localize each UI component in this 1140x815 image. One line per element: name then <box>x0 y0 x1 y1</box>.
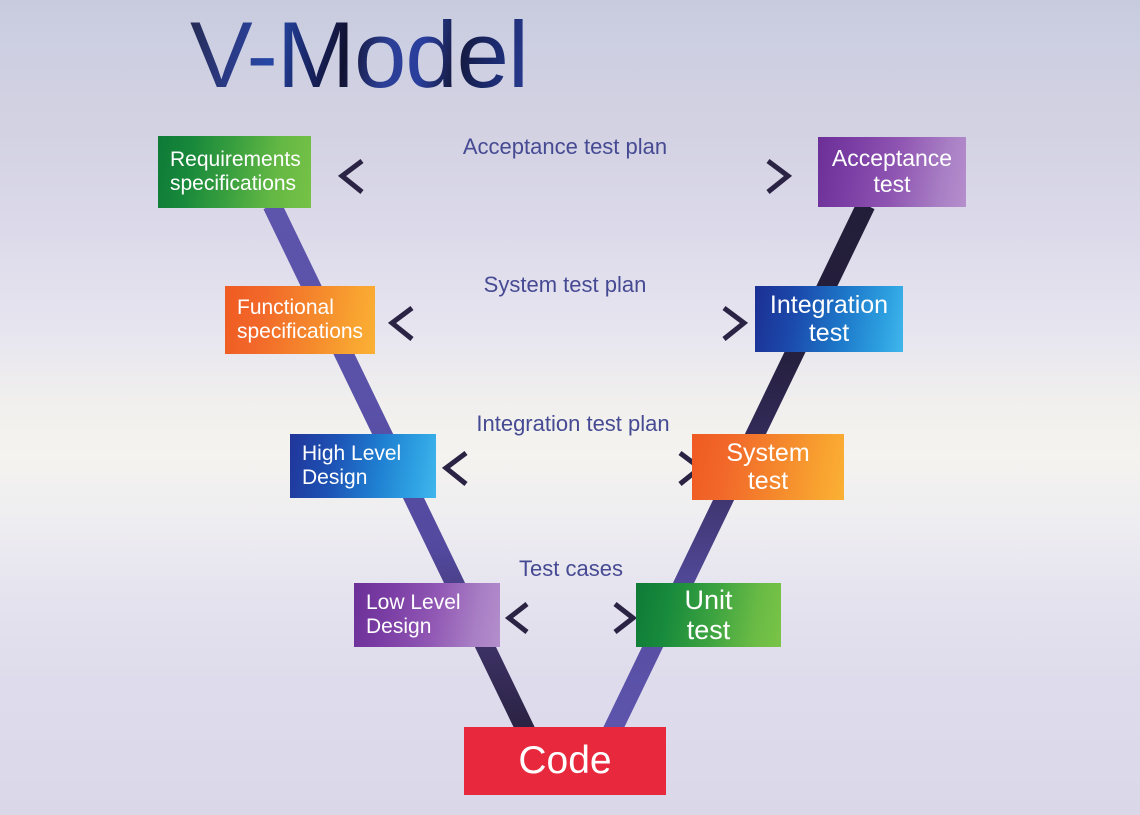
connector-test-cases <box>504 598 638 638</box>
box-requirements-specifications[interactable]: Requirements specifications <box>158 136 311 208</box>
connector-acceptance-test-plan <box>336 156 794 196</box>
connector-system-test-plan <box>386 303 750 343</box>
connector-label-test-cases: Test cases <box>426 556 716 582</box>
box-low-level-design[interactable]: Low Level Design <box>354 583 500 647</box>
diagram-canvas: V-Model Acceptance test plan <box>0 0 1140 815</box>
box-functional-specifications[interactable]: Functional specifications <box>225 286 375 354</box>
box-code[interactable]: Code <box>464 727 666 795</box>
v-shape-strokes <box>0 0 1140 815</box>
connector-label-system-test-plan: System test plan <box>420 272 710 298</box>
box-high-level-design[interactable]: High Level Design <box>290 434 436 498</box>
box-system-test[interactable]: System test <box>692 434 844 500</box>
box-unit-test[interactable]: Unit test <box>636 583 781 647</box>
box-acceptance-test[interactable]: Acceptance test <box>818 137 966 207</box>
connector-label-integration-test-plan: Integration test plan <box>428 411 718 437</box>
page-title: V-Model <box>190 8 528 102</box>
connector-label-acceptance-test-plan: Acceptance test plan <box>420 134 710 160</box>
box-integration-test[interactable]: Integration test <box>755 286 903 352</box>
connector-integration-test-plan <box>440 448 706 488</box>
